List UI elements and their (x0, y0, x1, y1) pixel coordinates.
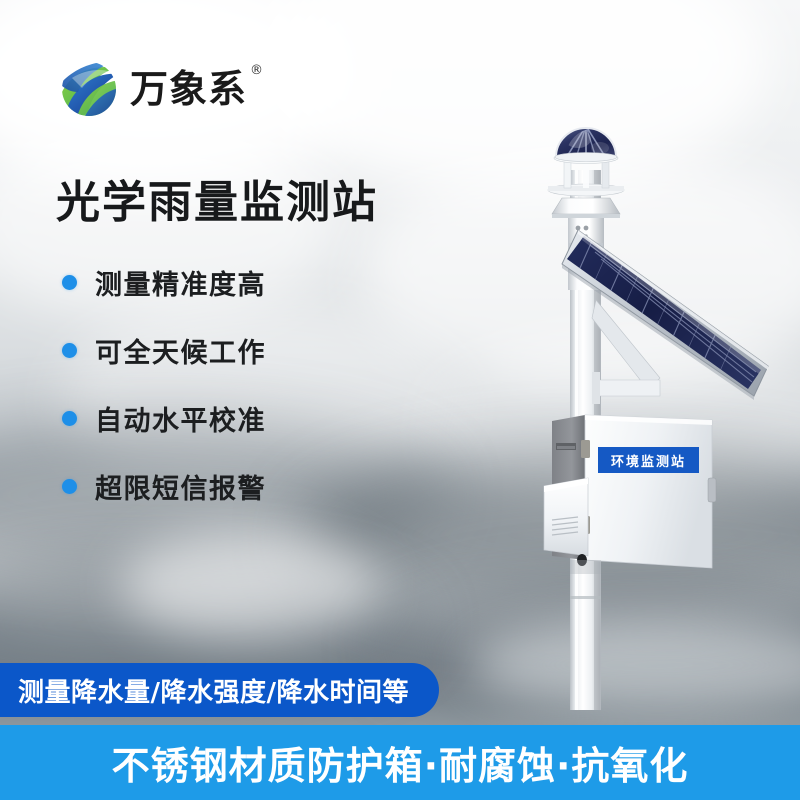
brand-name: 万象系 ® (130, 70, 247, 108)
registered-trademark-icon: ® (250, 64, 264, 77)
cloud-highlight (120, 530, 380, 640)
feature-label: 自动水平校准 (95, 399, 266, 438)
globe-swirl-logo-icon (58, 58, 120, 120)
list-item: 自动水平校准 (62, 398, 266, 438)
blue-dot-icon (62, 479, 77, 494)
enclosure-label: 环境监测站 (601, 451, 696, 470)
bottom-banner-text: 不锈钢材质防护箱·耐腐蚀·抗氧化 (112, 735, 689, 790)
product-poster: 万象系 ® 光学雨量监测站 测量精准度高 可全天候工作 自动水平校准 超限短信报… (0, 0, 800, 800)
feature-label: 可全天候工作 (95, 331, 266, 370)
pill-banner-text: 测量降水量/降水强度/降水时间等 (18, 672, 409, 709)
blue-dot-icon (62, 411, 77, 426)
feature-label: 测量精准度高 (95, 263, 266, 302)
blue-dot-icon (62, 275, 77, 290)
pill-banner: 测量降水量/降水强度/降水时间等 (0, 663, 439, 717)
list-item: 超限短信报警 (62, 466, 266, 506)
feature-label: 超限短信报警 (95, 467, 266, 506)
list-item: 可全天候工作 (62, 330, 266, 370)
feature-list: 测量精准度高 可全天候工作 自动水平校准 超限短信报警 (62, 262, 266, 534)
brand-name-text: 万象系 (130, 67, 247, 111)
brand-logo: 万象系 ® (58, 58, 247, 120)
bottom-banner: 不锈钢材质防护箱·耐腐蚀·抗氧化 (0, 725, 800, 800)
blue-dot-icon (62, 343, 77, 358)
page-title: 光学雨量监测站 (56, 166, 378, 230)
list-item: 测量精准度高 (62, 262, 266, 302)
